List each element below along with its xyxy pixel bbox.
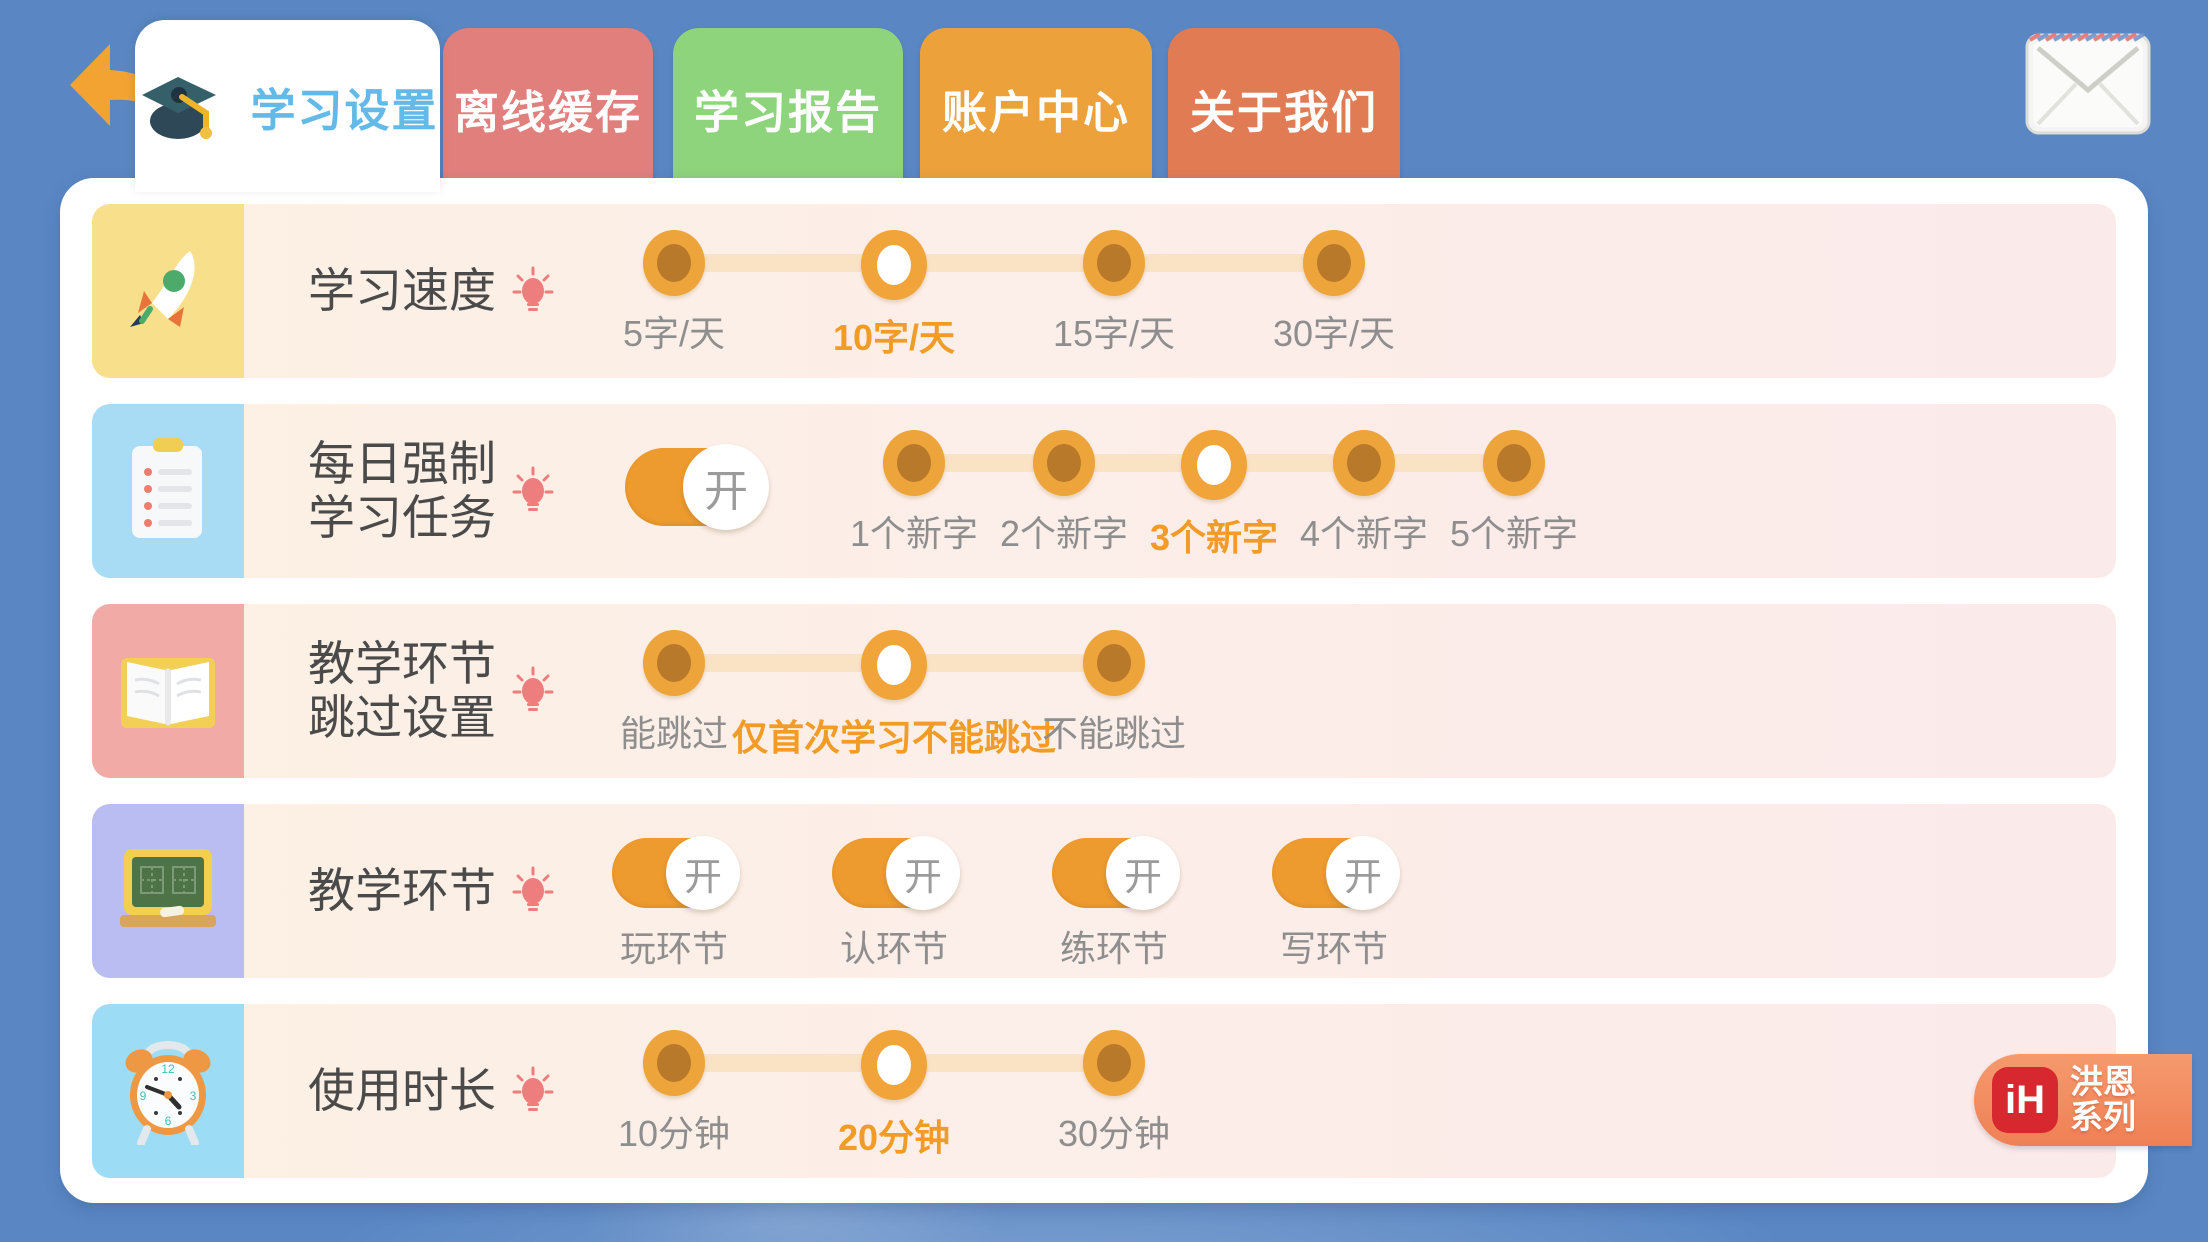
slider-option-label: 5字/天 (623, 305, 725, 357)
slider-stop[interactable]: 1个新字 (850, 430, 978, 557)
slider-stop[interactable]: 30分钟 (1058, 1030, 1170, 1157)
toggle-knob: 开 (1326, 836, 1400, 910)
hint-bulb-icon[interactable] (512, 665, 554, 717)
slider-option-label: 能跳过 (620, 705, 728, 757)
setting-row-teaching-stages: 教学环节 开 (92, 804, 2116, 978)
svg-text:12: 12 (161, 1062, 175, 1076)
row-controls: 10分钟 20分钟 30分钟 (554, 1004, 2116, 1178)
graduation-cap-icon (136, 69, 232, 143)
toggle-knob: 开 (1106, 836, 1180, 910)
hint-bulb-icon[interactable] (512, 865, 554, 917)
slider-stop[interactable]: 5字/天 (623, 230, 725, 357)
open-book-icon (113, 642, 223, 741)
tab-offline-cache[interactable]: 离线缓存 (443, 28, 653, 188)
slider-knob (1333, 430, 1395, 496)
slider-stop[interactable]: 5个新字 (1450, 430, 1578, 557)
slider-stop[interactable]: 能跳过 (620, 630, 728, 757)
row-label-container: 教学环节 (244, 804, 554, 978)
brand-logo-text: iH (2005, 1078, 2045, 1123)
tab-account-center[interactable]: 账户中心 (920, 28, 1152, 188)
alarm-clock-icon: 12 3 6 9 (113, 1033, 223, 1150)
tab-learning-report[interactable]: 学习报告 (673, 28, 903, 188)
slider-option-label: 10字/天 (833, 309, 955, 361)
brand-badge[interactable]: iH 洪恩 系列 (1974, 1054, 2192, 1146)
slider-option-label: 3个新字 (1150, 509, 1278, 561)
row-label-container: 每日强制 学习任务 (244, 404, 554, 578)
slider-knob (861, 1030, 927, 1100)
slider-option-label: 不能跳过 (1042, 705, 1186, 757)
svg-text:3: 3 (190, 1089, 197, 1103)
slider-stop-selected[interactable]: 10字/天 (833, 230, 955, 361)
toggle-label: 写环节 (1280, 920, 1388, 972)
setting-row-learning-speed: 学习速度 (92, 204, 2116, 378)
slider-knob (643, 1030, 705, 1096)
slider-option-label: 20分钟 (838, 1109, 950, 1161)
row-title: 每日强制 学习任务 (308, 437, 496, 544)
settings-panel: 学习速度 (60, 178, 2148, 1203)
setting-row-usage-duration: 12 3 6 9 使用时长 (92, 1004, 2116, 1178)
toggle-stage-write[interactable]: 开 写环节 (1272, 838, 1396, 972)
svg-text:6: 6 (165, 1114, 172, 1128)
row-label-container: 教学环节 跳过设置 (244, 604, 554, 778)
toggle-knob: 开 (666, 836, 740, 910)
svg-text:9: 9 (140, 1089, 147, 1103)
tab-label: 账户中心 (942, 76, 1130, 141)
slider-option-label: 仅首次学习不能跳过 (732, 709, 1056, 761)
rocket-icon (116, 237, 220, 346)
slider-stop-selected[interactable]: 仅首次学习不能跳过 (732, 630, 1056, 761)
toggle-label: 玩环节 (620, 920, 728, 972)
slider-option-label: 15字/天 (1053, 305, 1175, 357)
slider-option-label: 5个新字 (1450, 505, 1578, 557)
slider-option-label: 1个新字 (850, 505, 978, 557)
slider-knob (643, 630, 705, 696)
tab-label: 离线缓存 (454, 76, 642, 141)
slider-knob (1083, 1030, 1145, 1096)
slider-knob (1033, 430, 1095, 496)
tab-label: 关于我们 (1190, 76, 1378, 141)
row-title: 学习速度 (308, 264, 496, 318)
row-icon-tile (92, 204, 244, 378)
slider-stop-selected[interactable]: 3个新字 (1150, 430, 1278, 561)
blackboard-icon (112, 839, 224, 944)
tab-learning-settings[interactable]: 学习设置 (135, 20, 440, 192)
row-controls: 开 1个新字 2个新字 3个新字 (554, 404, 2116, 578)
slider-stop[interactable]: 15字/天 (1053, 230, 1175, 357)
toggle-knob: 开 (886, 836, 960, 910)
brand-logo-icon: iH (1992, 1067, 2058, 1133)
slider-stop[interactable]: 10分钟 (618, 1030, 730, 1157)
row-label-container: 学习速度 (244, 204, 554, 378)
slider-option-label: 30分钟 (1058, 1105, 1170, 1157)
row-icon-tile (92, 404, 244, 578)
slider-stop[interactable]: 2个新字 (1000, 430, 1128, 557)
slider-knob (1083, 630, 1145, 696)
slider-knob (643, 230, 705, 296)
row-controls: 开 玩环节 开 认环节 开 练环节 (554, 804, 2116, 978)
slider-option-label: 4个新字 (1300, 505, 1428, 557)
slider-knob (1483, 430, 1545, 496)
hint-bulb-icon[interactable] (512, 265, 554, 317)
setting-row-daily-required-task: 每日强制 学习任务 开 (92, 404, 2116, 578)
slider-knob (1083, 230, 1145, 296)
toggle-stage-play[interactable]: 开 玩环节 (612, 838, 736, 972)
toggle-track: 开 (1052, 838, 1176, 908)
slider-teaching-skip[interactable]: 能跳过 仅首次学习不能跳过 不能跳过 (554, 604, 2116, 778)
slider-knob (1303, 230, 1365, 296)
setting-row-teaching-skip: 教学环节 跳过设置 (92, 604, 2116, 778)
slider-knob (1181, 430, 1247, 500)
slider-option-label: 2个新字 (1000, 505, 1128, 557)
clipboard-icon (120, 434, 216, 549)
slider-knob (861, 630, 927, 700)
toggle-stage-recognize[interactable]: 开 认环节 (832, 838, 956, 972)
brand-name: 洪恩 系列 (2070, 1065, 2136, 1134)
tab-label: 学习设置 (250, 74, 438, 139)
slider-stop[interactable]: 不能跳过 (1042, 630, 1186, 757)
slider-usage-duration[interactable]: 10分钟 20分钟 30分钟 (554, 1004, 2116, 1178)
row-icon-tile: 12 3 6 9 (92, 1004, 244, 1178)
slider-new-chars-count[interactable]: 1个新字 2个新字 3个新字 4个新字 (554, 404, 2116, 578)
row-title: 教学环节 跳过设置 (308, 637, 496, 744)
tab-label: 学习报告 (694, 76, 882, 141)
toggle-track: 开 (612, 838, 736, 908)
slider-knob (883, 430, 945, 496)
slider-learning-speed[interactable]: 5字/天 10字/天 15字/天 30字/天 (554, 204, 2116, 378)
slider-option-label: 30字/天 (1273, 305, 1395, 357)
hint-bulb-icon[interactable] (512, 1065, 554, 1117)
slider-stop[interactable]: 4个新字 (1300, 430, 1428, 557)
row-controls: 5字/天 10字/天 15字/天 30字/天 (554, 204, 2116, 378)
slider-stop[interactable]: 30字/天 (1273, 230, 1395, 357)
slider-stop-selected[interactable]: 20分钟 (838, 1030, 950, 1161)
row-icon-tile (92, 604, 244, 778)
top-tab-bar: 学习设置 离线缓存 学习报告 账户中心 关于我们 (0, 0, 2208, 185)
row-icon-tile (92, 804, 244, 978)
slider-track (674, 254, 1334, 272)
slider-knob (861, 230, 927, 300)
row-title: 教学环节 (308, 864, 496, 918)
toggle-track: 开 (832, 838, 956, 908)
toggle-label: 练环节 (1060, 920, 1168, 972)
toggle-label: 认环节 (840, 920, 948, 972)
hint-bulb-icon[interactable] (512, 465, 554, 517)
mail-envelope-icon[interactable] (2024, 32, 2152, 136)
row-controls: 能跳过 仅首次学习不能跳过 不能跳过 (554, 604, 2116, 778)
toggle-stage-practice[interactable]: 开 练环节 (1052, 838, 1176, 972)
slider-option-label: 10分钟 (618, 1105, 730, 1157)
row-label-container: 使用时长 (244, 1004, 554, 1178)
settings-list[interactable]: 学习速度 (60, 178, 2148, 1118)
tab-about-us[interactable]: 关于我们 (1168, 28, 1400, 188)
row-title: 使用时长 (308, 1064, 496, 1118)
toggle-track: 开 (1272, 838, 1396, 908)
